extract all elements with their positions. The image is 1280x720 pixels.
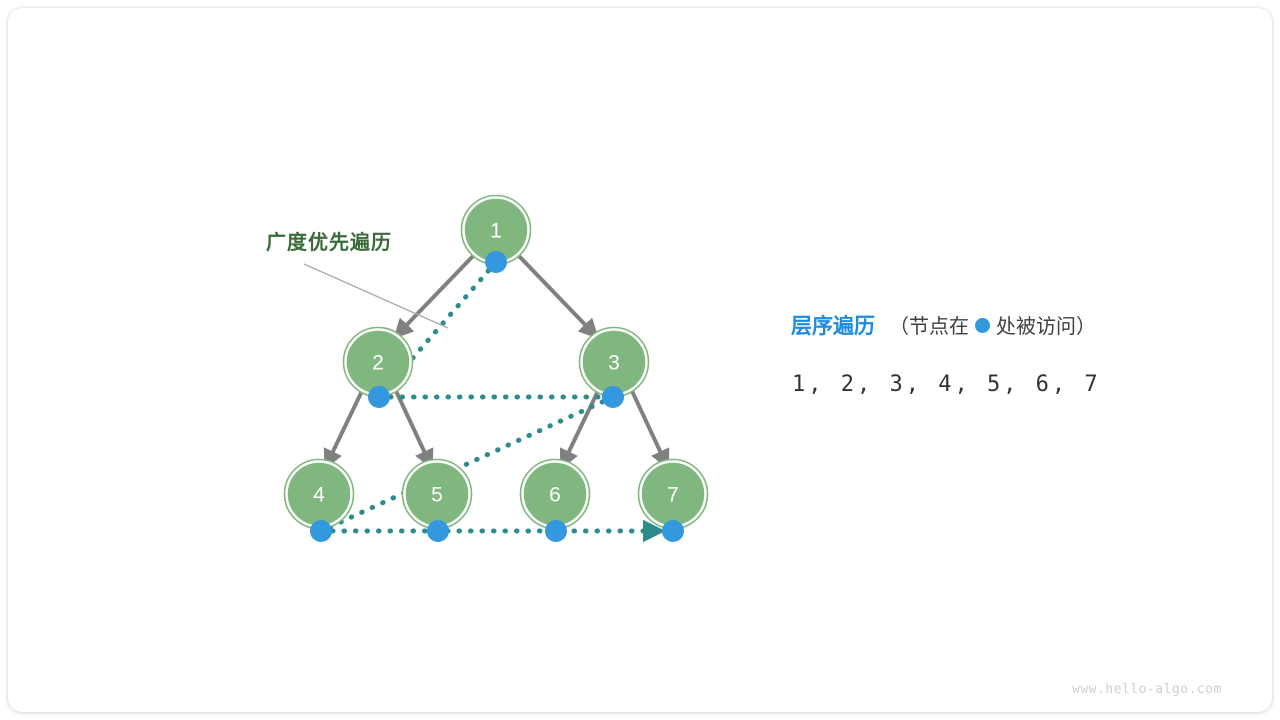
edge-2-4 [326,391,362,466]
visit-dot-icon[interactable] [485,251,507,273]
annotation-leader-line [304,264,448,328]
visit-dot-icon[interactable] [368,386,390,408]
tree-node-7[interactable]: 7 [639,460,708,543]
tree-node-3[interactable]: 3 [580,328,649,409]
node-label: 3 [608,352,620,375]
visit-dot-icon[interactable] [545,520,567,542]
node-label: 7 [667,484,679,507]
bfs-annotation-label: 广度优先遍历 [266,226,392,255]
edge-1-3 [518,255,596,336]
visit-dot-icon[interactable] [602,386,624,408]
tree-node-1[interactable]: 1 [462,196,531,274]
edge-3-7 [632,391,667,466]
edge-2-5 [396,391,431,466]
node-label: 2 [372,352,384,375]
edge-1-2 [396,255,474,336]
visit-dot-icon[interactable] [427,520,449,542]
edge-3-6 [562,391,598,466]
binary-tree-diagram: 1 2 3 4 [8,8,1272,712]
visit-dot-icon[interactable] [310,520,332,542]
node-label: 6 [549,484,561,507]
diagram-card: 1 2 3 4 [8,8,1272,712]
visit-dot-icon[interactable] [662,520,684,542]
watermark: www.hello-algo.com [1072,682,1222,697]
blue-dot-icon [975,318,990,333]
node-label: 1 [490,220,502,243]
node-label: 5 [431,484,443,507]
tree-node-6[interactable]: 6 [521,460,590,543]
traversal-heading-row: 层序遍历 （节点在 处被访问） [791,310,1096,340]
traversal-note: （节点在 处被访问） [889,310,1096,339]
node-label: 4 [313,484,325,507]
traversal-note-suffix: 处被访问） [996,310,1096,339]
traversal-sequence: 1, 2, 3, 4, 5, 6, 7 [792,372,1101,397]
traversal-note-prefix: （节点在 [889,310,969,339]
traversal-heading: 层序遍历 [791,310,875,340]
